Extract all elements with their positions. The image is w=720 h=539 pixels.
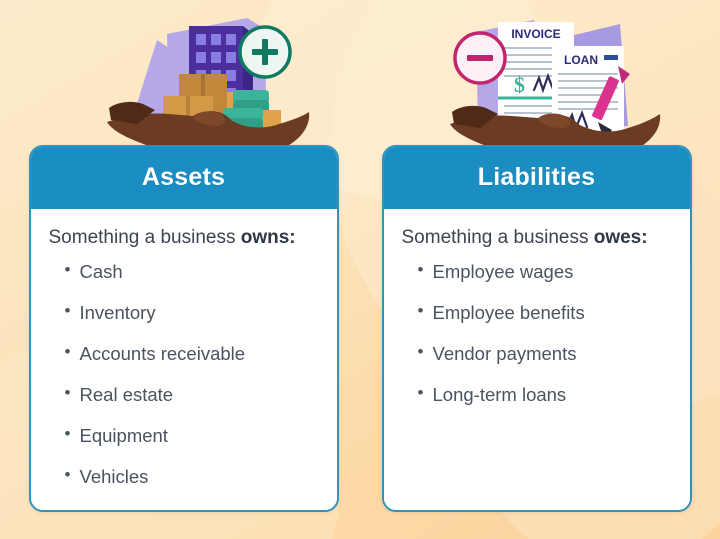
assets-card: Assets Something a business owns: Cash I… [29, 145, 339, 512]
list-item: Employee benefits [418, 302, 690, 324]
assets-card-title: Assets [142, 163, 225, 192]
loan-stamp [604, 55, 618, 60]
loan-label: LOAN [564, 53, 598, 67]
liabilities-lead-bold: owes: [594, 227, 648, 248]
list-item: Inventory [65, 302, 337, 324]
liabilities-list: Employee wages Employee benefits Vendor … [384, 255, 690, 406]
list-item: Equipment [65, 425, 337, 447]
minus-circle-icon [455, 33, 505, 83]
dollar-sign-icon: $ [514, 72, 525, 97]
liabilities-card-header: Liabilities [382, 145, 692, 209]
cards-row: Assets Something a business owns: Cash I… [0, 145, 720, 513]
assets-lead-bold: owns: [241, 227, 296, 248]
invoice-label: INVOICE [511, 27, 560, 41]
list-item: Real estate [65, 384, 337, 406]
liabilities-lead: Something a business owes: [384, 227, 690, 249]
liabilities-card-title: Liabilities [478, 163, 596, 192]
assets-list: Cash Inventory Accounts receivable Real … [31, 255, 337, 488]
assets-card-body: Something a business owns: Cash Inventor… [31, 209, 337, 512]
assets-lead: Something a business owns: [31, 227, 337, 249]
assets-card-header: Assets [29, 145, 339, 209]
assets-lead-plain: Something a business [49, 227, 241, 248]
infographic-canvas: INVOICE $ LOAN [0, 0, 720, 539]
list-item: Vehicles [65, 466, 337, 488]
assets-illustration [97, 4, 327, 164]
list-item: Accounts receivable [65, 343, 337, 365]
list-item: Vendor payments [418, 343, 690, 365]
liabilities-lead-plain: Something a business [402, 227, 594, 248]
list-item: Long-term loans [418, 384, 690, 406]
plus-circle-icon [240, 27, 290, 77]
list-item: Employee wages [418, 261, 690, 283]
liabilities-card-body: Something a business owes: Employee wage… [384, 209, 690, 510]
liabilities-card: Liabilities Something a business owes: E… [382, 145, 692, 512]
list-item: Cash [65, 261, 337, 283]
liabilities-illustration: INVOICE $ LOAN [442, 4, 672, 164]
